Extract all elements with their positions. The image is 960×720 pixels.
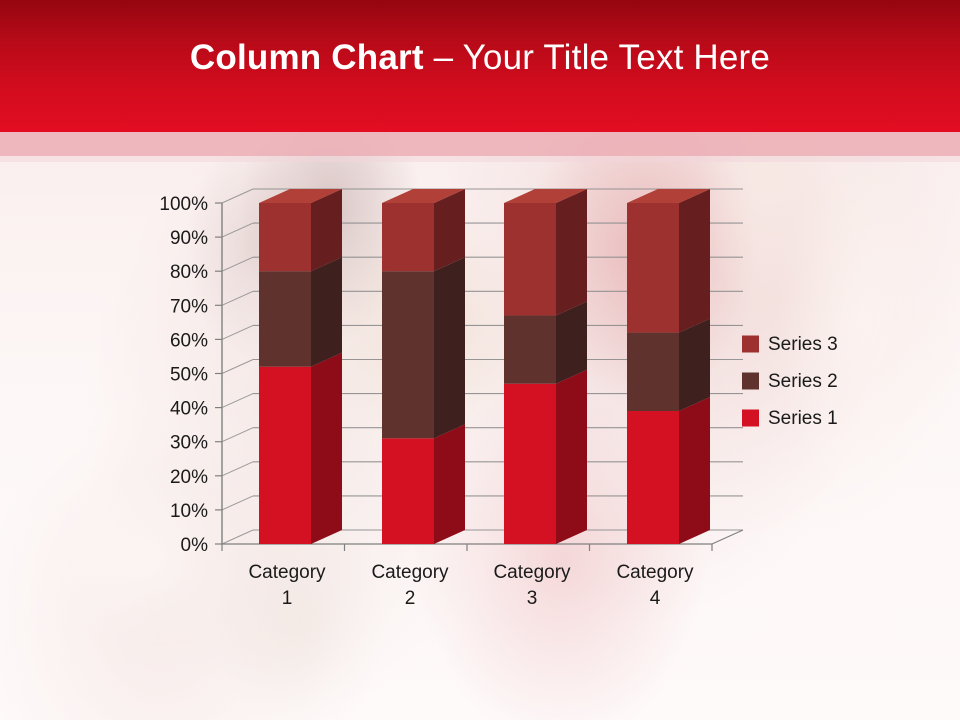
bar-front-face [382,438,434,544]
slide-canvas: Column Chart – Your Title Text Here 0%10… [0,0,960,720]
legend-swatch [742,336,759,353]
bar-side-face [434,189,465,271]
bar-side-face [311,353,342,544]
y-axis-tick-label: 60% [170,330,208,351]
bar-side-face [556,302,587,384]
bar-front-face [259,271,311,366]
bar-segment [504,370,587,544]
column-chart: 0%10%20%30%40%50%60%70%80%90%100% Catego… [0,0,960,720]
bar-front-face [259,367,311,544]
legend-label: Series 2 [768,371,838,392]
bar-side-face [556,370,587,544]
legend-item[interactable]: Series 1 [742,408,838,429]
x-axis-category-label: Category [248,562,326,583]
y-axis-tick-label: 70% [170,296,208,317]
legend-item[interactable]: Series 3 [742,334,838,355]
bar-segment [382,424,465,544]
bar-segment [259,353,342,544]
bar-front-face [259,203,311,271]
x-axis-category-labels: Category1Category2Category3Category4 [248,562,694,609]
bar-front-face [382,271,434,438]
bar-side-face [434,424,465,544]
x-axis-category-label: 2 [405,588,416,609]
bar-side-face [311,257,342,366]
x-axis-category-label: 1 [282,588,293,609]
y-axis-tick-labels: 0%10%20%30%40%50%60%70%80%90%100% [159,194,208,556]
bar-segment [382,257,465,438]
legend-label: Series 3 [768,334,838,355]
y-axis-tick-label: 50% [170,365,208,386]
bar-segment [627,189,710,333]
bar-front-face [504,316,556,384]
bar-side-face [556,189,587,316]
bar-front-face [627,203,679,333]
bar-segment [504,189,587,316]
x-axis-category-label: Category [616,562,694,583]
y-axis-tick-label: 80% [170,262,208,283]
legend-item[interactable]: Series 2 [742,371,838,392]
y-axis-tick-label: 90% [170,228,208,249]
bar-side-face [679,319,710,411]
y-axis-tick-label: 30% [170,433,208,454]
bar-segment [382,189,465,271]
bar-front-face [627,333,679,411]
bar-side-face [434,257,465,438]
bar-column [382,189,465,544]
bar-side-face [311,189,342,271]
bar-side-face [679,397,710,544]
y-axis-tick-label: 20% [170,467,208,488]
bar-segment [627,397,710,544]
legend-swatch [742,410,759,427]
x-axis-category-label: Category [493,562,571,583]
bar-column [504,189,587,544]
y-axis-tick-label: 0% [181,535,209,556]
x-axis-category-label: 3 [527,588,538,609]
x-axis-category-label: Category [371,562,449,583]
bar-front-face [382,203,434,271]
y-axis-tick-label: 10% [170,501,208,522]
bar-front-face [504,384,556,544]
chart-legend: Series 3Series 2Series 1 [742,334,838,429]
bar-segment [259,257,342,366]
y-axis-tick-label: 40% [170,399,208,420]
bar-segment [259,189,342,271]
bar-column [259,189,342,544]
bar-front-face [627,411,679,544]
legend-swatch [742,373,759,390]
bar-front-face [504,203,556,316]
x-axis-category-label: 4 [650,588,661,609]
chart-bars [259,189,710,544]
bar-side-face [679,189,710,333]
legend-label: Series 1 [768,408,838,429]
bar-column [627,189,710,544]
y-axis-tick-label: 100% [159,194,208,215]
